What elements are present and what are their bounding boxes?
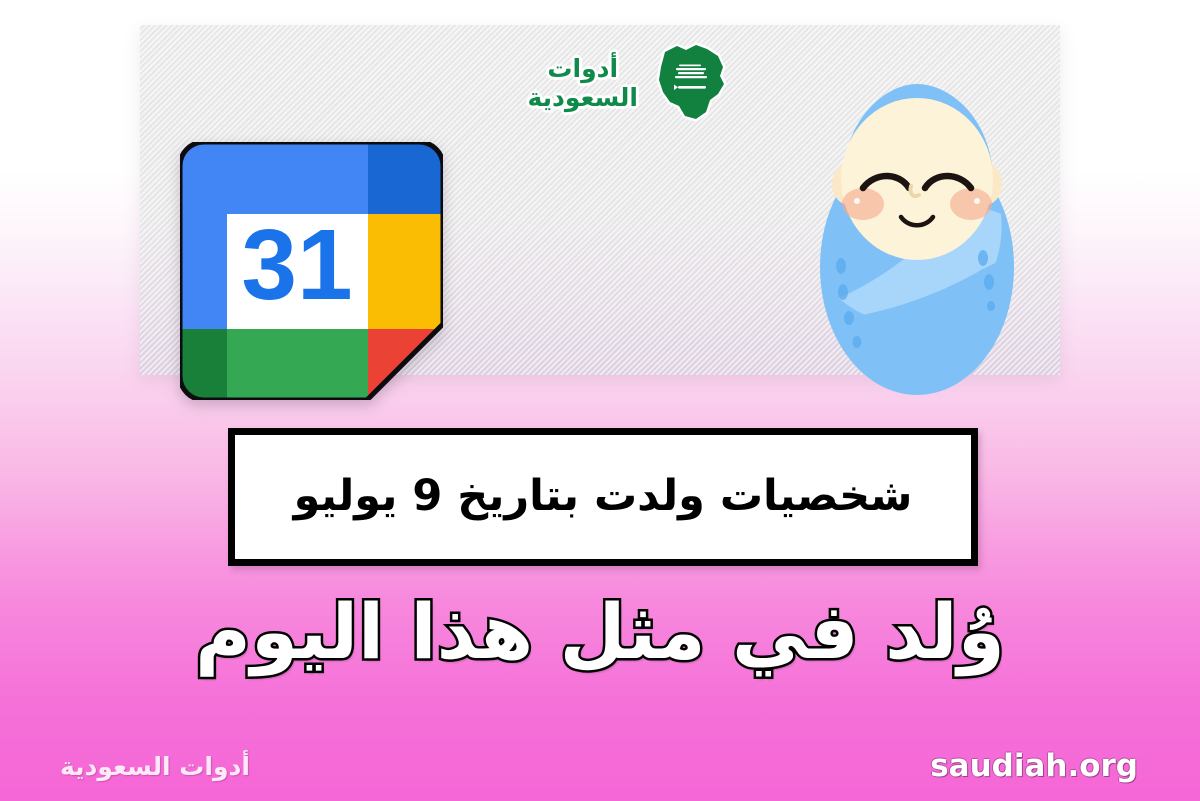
google-calendar-icon: 31 [180,142,443,400]
site-logo-line-1: أدوات [527,54,638,84]
headline-banner: شخصيات ولدت بتاريخ 9 يوليو [228,428,978,566]
headline-text: شخصيات ولدت بتاريخ 9 يوليو [294,473,913,520]
swaddled-baby-illustration [805,62,1030,422]
page-title: وُلد في مثل هذا اليوم [0,588,1200,675]
site-logo-text: أدوات السعودية [527,54,638,113]
site-logo[interactable]: أدوات السعودية [440,28,730,138]
site-logo-line-2: السعودية [527,83,638,113]
footer-brand-label: أدوات السعودية [60,752,250,781]
svg-text:31: 31 [241,209,352,321]
footer-site-url[interactable]: saudiah.org [930,748,1138,784]
page-root: أدوات السعودية 31 [0,0,1200,801]
saudi-arabia-map-icon [652,40,730,126]
